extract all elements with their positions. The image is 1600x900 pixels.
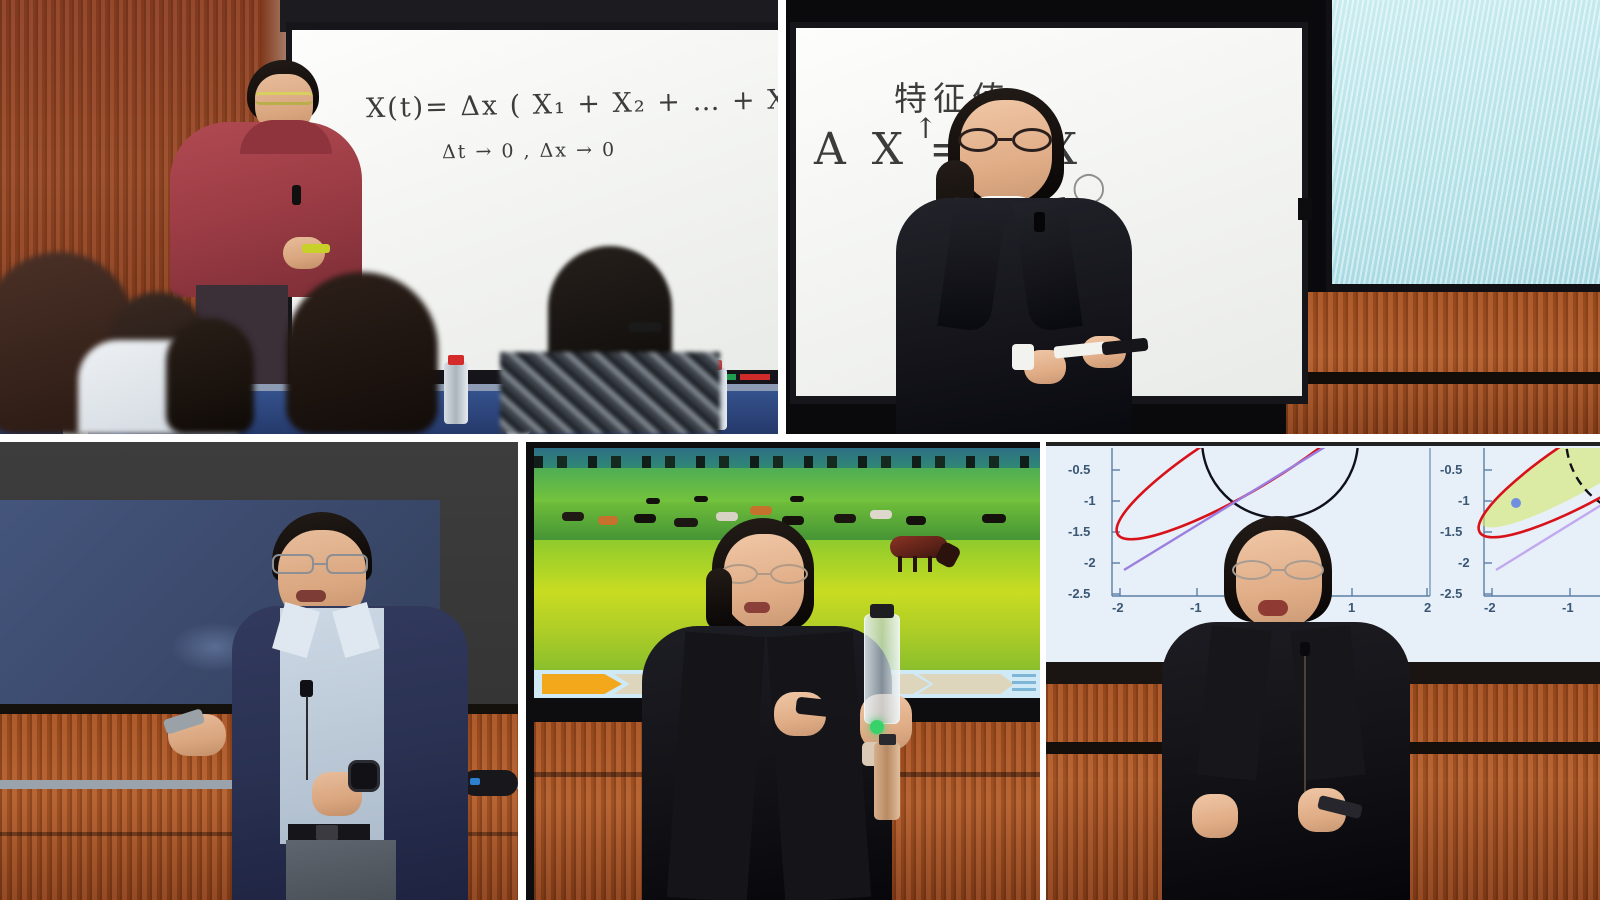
cattle xyxy=(634,514,656,523)
panel-male-presenter xyxy=(0,442,518,900)
chart1-xtick-4: 2 xyxy=(1424,600,1431,615)
chart1-ytick-0: -0.5 xyxy=(1068,462,1090,477)
cattle xyxy=(646,498,660,504)
presenter-mouth xyxy=(296,590,326,602)
presenter-hand-left xyxy=(1192,794,1238,838)
cattle xyxy=(982,514,1006,523)
chart1-ytick-1: -1 xyxy=(1084,493,1096,508)
presenter-mouth xyxy=(744,602,770,613)
whiteboard-equation-line2: Δt → 0 , Δx → 0 xyxy=(442,139,616,163)
cattle xyxy=(834,514,856,523)
screen-scanlines xyxy=(1332,0,1600,284)
lapel-mic xyxy=(292,185,301,205)
corner-lines-icon xyxy=(1012,674,1036,694)
chart2-xtick-0: -2 xyxy=(1484,600,1496,615)
chart2-ytick-0: -0.5 xyxy=(1440,462,1462,477)
podium-bottle xyxy=(874,742,900,820)
bottle-cap xyxy=(448,355,464,365)
clicker-led xyxy=(870,720,884,734)
cattle xyxy=(598,516,618,525)
presenter-smartwatch xyxy=(348,760,380,792)
slide-grass-far xyxy=(534,468,1040,502)
chart1-ytick-2: -1.5 xyxy=(1068,524,1090,539)
presenter-mouth xyxy=(1258,600,1288,616)
cattle xyxy=(750,506,772,515)
audience-head xyxy=(166,318,254,434)
cattle xyxy=(716,512,738,521)
cattle xyxy=(562,512,584,521)
mic-cable xyxy=(306,696,308,780)
belt-buckle xyxy=(316,825,338,840)
held-bottle-cap xyxy=(870,604,894,618)
cattle xyxy=(694,496,708,502)
chart2-ytick-4: -2.5 xyxy=(1440,586,1462,601)
chart1-ytick-3: -2 xyxy=(1084,555,1096,570)
chart1-xtick-1: -1 xyxy=(1190,600,1202,615)
microphone-indicator xyxy=(470,778,480,785)
chart2-ytick-1: -1 xyxy=(1458,493,1470,508)
presenter-blazer xyxy=(896,198,1132,434)
cattle xyxy=(674,518,698,527)
chart2-ytick-3: -2 xyxy=(1458,555,1470,570)
photo-collage: X(t)= Δx ( X₁ + X₂ + … + X[t/Δt]). Δt → … xyxy=(0,0,1600,900)
audience-jacket xyxy=(500,352,720,434)
chart1-xtick-0: -2 xyxy=(1112,600,1124,615)
presenter-glasses xyxy=(720,564,810,584)
podium-bottle-cap xyxy=(879,734,896,745)
chart-2: -0.5 -1 -1.5 -2 -2.5 -2 -1 xyxy=(1432,448,1600,618)
chart2-xtick-1: -1 xyxy=(1562,600,1574,615)
presenter-glasses xyxy=(1232,560,1326,580)
laser-pointer xyxy=(302,244,330,253)
presenter-cuff xyxy=(1012,344,1034,370)
cattle xyxy=(870,510,892,519)
presenter-glasses xyxy=(255,92,313,105)
presenter-trousers xyxy=(286,840,396,900)
panel-eigenvalue-whiteboard: 特征值 ↑ A X = λ X ↳ ◯ xyxy=(786,0,1600,434)
cattle xyxy=(790,496,804,502)
audience-glasses xyxy=(628,322,662,332)
audience-head xyxy=(286,272,438,434)
held-bottle xyxy=(864,614,900,724)
cattle xyxy=(906,516,926,525)
lapel-mic xyxy=(1034,212,1045,232)
presenter-hand xyxy=(283,237,325,269)
chart2-ytick-2: -1.5 xyxy=(1440,524,1462,539)
panel-grassland-slide xyxy=(526,442,1040,900)
lapel-mic xyxy=(300,680,313,697)
chart1-xtick-3: 1 xyxy=(1348,600,1355,615)
wall-trim xyxy=(1286,372,1600,384)
wood-wall xyxy=(1286,292,1600,434)
water-bottle xyxy=(444,362,468,424)
grazing-horse-legs xyxy=(898,556,942,572)
marker-red xyxy=(740,374,770,380)
presenter-glasses xyxy=(958,128,1054,152)
lapel-mic xyxy=(1300,642,1310,656)
presenter-glasses xyxy=(272,554,368,574)
panel-lecture-hall-whiteboard: X(t)= Δx ( X₁ + X₂ + … + X[t/Δt]). Δt → … xyxy=(0,0,778,434)
panel-matlab-plot-slide: -0.5 -1 -1.5 -2 -2.5 -2 -1 1 2 xyxy=(1046,442,1600,900)
presenter-bun xyxy=(706,568,732,630)
whiteboard-hinge xyxy=(1298,198,1312,220)
chart1-ytick-4: -2.5 xyxy=(1068,586,1090,601)
